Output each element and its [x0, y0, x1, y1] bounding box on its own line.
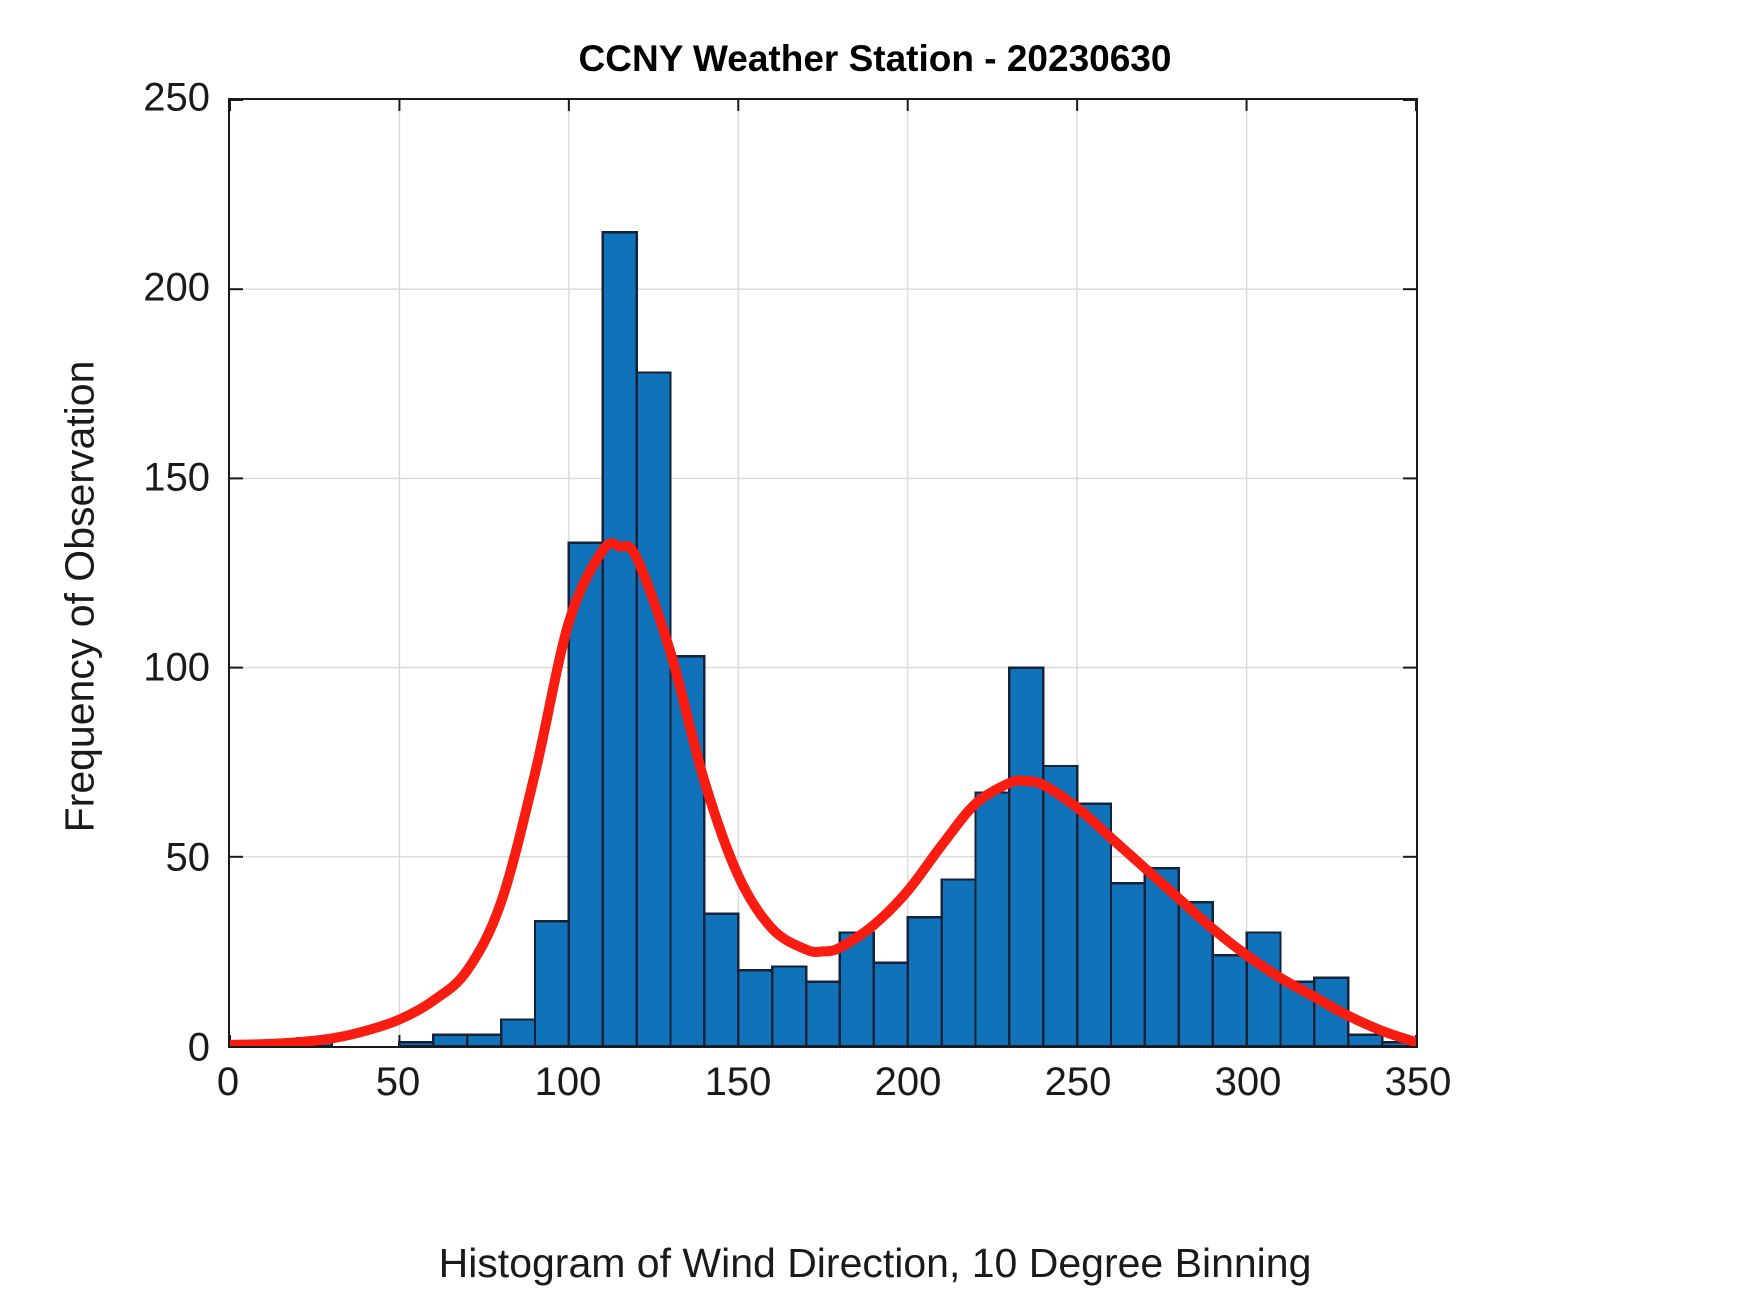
x-tick-label: 0	[148, 1060, 308, 1105]
x-tick-label-group: 050100150200250300350	[228, 1060, 1418, 1120]
y-tick-label-group: 050100150200250	[28, 98, 210, 1048]
x-tick-label: 300	[1168, 1060, 1328, 1105]
y-tick-label: 250	[40, 76, 210, 121]
chart-figure: CCNY Weather Station - 20230630 Frequenc…	[0, 0, 1750, 1313]
y-tick-label: 150	[40, 456, 210, 501]
plot-area	[228, 98, 1418, 1048]
x-axis-label: Histogram of Wind Direction, 10 Degree B…	[0, 1240, 1750, 1287]
y-tick-label: 200	[40, 266, 210, 311]
x-tick-label: 150	[658, 1060, 818, 1105]
x-tick-label: 250	[998, 1060, 1158, 1105]
x-tick-label: 100	[488, 1060, 648, 1105]
x-tick-label: 350	[1338, 1060, 1498, 1105]
fitted-curve	[230, 100, 1416, 1046]
y-tick-label: 100	[40, 646, 210, 691]
x-tick-label: 200	[828, 1060, 988, 1105]
x-tick-label: 50	[318, 1060, 478, 1105]
y-tick-label: 50	[40, 836, 210, 881]
chart-title: CCNY Weather Station - 20230630	[0, 38, 1750, 80]
